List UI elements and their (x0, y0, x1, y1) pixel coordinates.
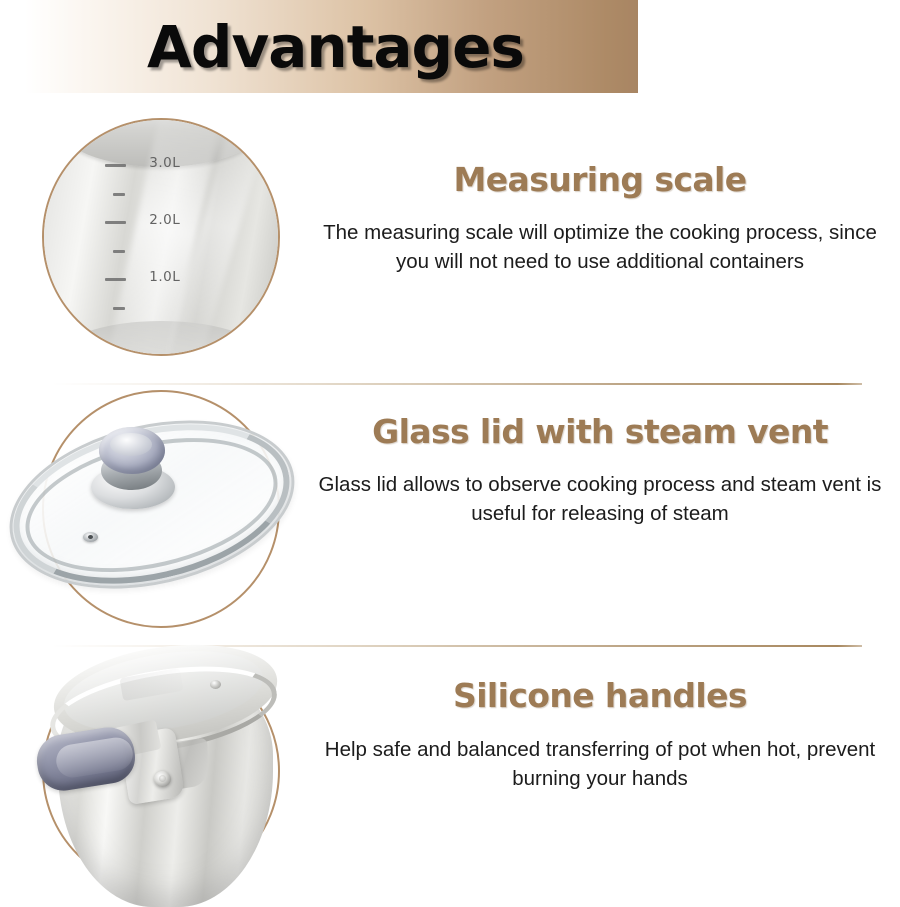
knob-dish-highlight (110, 433, 152, 456)
scale-tick-minor (113, 307, 125, 310)
scale-tick-major (105, 164, 126, 167)
scale-label-3l: 3.0L (149, 156, 180, 172)
header-banner: Advantages (25, 0, 638, 93)
page-title: Advantages (25, 18, 638, 76)
feature-section-silicone-handles: Silicone handles Help safe and balanced … (0, 652, 900, 900)
feature-text-measuring-scale: Measuring scale The measuring scale will… (300, 162, 900, 276)
scale-label-2l: 2.0L (149, 212, 180, 228)
feature-image-measuring-scale: 3.0L 2.0L 1.0L (42, 118, 280, 356)
image-clip: 3.0L 2.0L 1.0L (44, 120, 278, 354)
feature-text-glass-lid: Glass lid with steam vent Glass lid allo… (300, 414, 900, 528)
feature-title: Glass lid with steam vent (300, 414, 900, 451)
image-clip (44, 392, 278, 626)
feature-description: Glass lid allows to observe cooking proc… (300, 470, 900, 528)
feature-image-silicone-handles (42, 652, 280, 890)
section-divider (52, 383, 862, 385)
scale-tick-major (105, 221, 126, 224)
scale-tick-major (105, 278, 126, 281)
glass-lid (44, 392, 278, 626)
measuring-scale-marks: 3.0L 2.0L 1.0L (44, 120, 278, 354)
lid-screw (210, 680, 221, 689)
feature-description: Help safe and balanced transferring of p… (300, 735, 900, 793)
scale-tick-minor (113, 250, 125, 253)
feature-title: Measuring scale (300, 162, 900, 199)
feature-title: Silicone handles (300, 678, 900, 715)
feature-section-glass-lid: Glass lid with steam vent Glass lid allo… (0, 390, 900, 645)
feature-description: The measuring scale will optimize the co… (300, 218, 900, 276)
handle-rivet (154, 771, 171, 787)
scale-label-1l: 1.0L (149, 269, 180, 285)
feature-image-glass-lid (42, 390, 280, 628)
image-clip (44, 654, 278, 888)
scale-tick-minor (113, 193, 125, 196)
feature-text-silicone-handles: Silicone handles Help safe and balanced … (300, 678, 900, 793)
feature-section-measuring-scale: 3.0L 2.0L 1.0L Measuring scale The measu… (0, 118, 900, 383)
